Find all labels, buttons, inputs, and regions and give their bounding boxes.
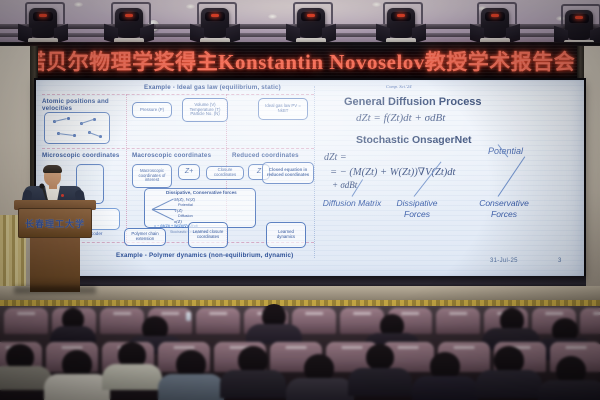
audience-shoulders	[50, 326, 96, 342]
ceiling-downlight	[268, 14, 277, 19]
lectern-podium: 长春理工大学	[14, 200, 96, 292]
audience-shoulders	[220, 370, 286, 398]
seat-number-tag	[305, 312, 323, 315]
auditorium-seat	[340, 308, 384, 334]
audience-head	[366, 344, 394, 370]
seat-number-tag	[342, 346, 363, 349]
stage-spotlight	[378, 2, 424, 46]
spotlight-indicator-icon	[39, 14, 47, 17]
seat-number-tag	[286, 346, 307, 349]
seat-number-tag	[17, 312, 35, 315]
stage-spotlight	[106, 2, 152, 46]
audience-shoulders	[102, 364, 162, 390]
speaker-hair	[43, 165, 62, 173]
led-banner: 诺贝尔物理学奖得主Konstantin Novoselov教授学术报告会	[0, 42, 600, 80]
podium-institution-plaque: 长春理工大学	[25, 217, 85, 230]
auditorium-seat	[100, 308, 144, 334]
seat-number-tag	[398, 346, 419, 349]
audience-shoulders	[538, 380, 600, 400]
auditorium-photo: 诺贝尔物理学奖得主Konstantin Novoselov教授学术报告会 Exa…	[0, 0, 600, 400]
audience-shoulders	[158, 374, 224, 400]
audience-area	[0, 306, 600, 400]
seat-number-tag	[449, 312, 467, 315]
speaker-lapel-pin-icon	[61, 194, 64, 197]
auditorium-seat	[436, 308, 480, 334]
podium-column	[30, 238, 80, 292]
screen-bezel	[34, 78, 586, 280]
seat-number-tag	[209, 312, 227, 315]
podium-shadow	[14, 286, 96, 294]
seat-number-tag	[401, 312, 419, 315]
stage-spotlight	[472, 2, 518, 46]
seat-number-tag	[353, 312, 371, 315]
audience-shoulders	[412, 376, 478, 400]
seat-number-tag	[593, 312, 600, 315]
stage-spotlight	[288, 2, 334, 46]
seat-number-tag	[566, 346, 587, 349]
seat-number-tag	[161, 312, 179, 315]
stage-spotlight	[20, 2, 66, 46]
spotlight-indicator-icon	[397, 14, 405, 17]
seat-number-tag	[174, 346, 195, 349]
led-scanline-overlay	[0, 42, 600, 80]
seat-number-tag	[62, 346, 83, 349]
water-bottle	[186, 312, 191, 321]
audience-shoulders	[246, 324, 302, 344]
stage-spotlight	[192, 2, 238, 46]
podium-front-panel: 长春理工大学	[18, 208, 92, 238]
spotlight-indicator-icon	[575, 16, 583, 19]
audience-shoulders	[476, 370, 542, 398]
spotlight-indicator-icon	[307, 14, 315, 17]
seat-number-tag	[454, 346, 475, 349]
spotlight-indicator-icon	[491, 14, 499, 17]
auditorium-seat	[580, 308, 600, 334]
spotlight-indicator-icon	[125, 14, 133, 17]
audience-shoulders	[44, 374, 110, 400]
auditorium-seat	[4, 308, 48, 334]
audience-shoulders	[286, 378, 354, 400]
ceiling-downlight	[74, 2, 83, 7]
audience-shoulders	[348, 368, 412, 396]
seat-number-tag	[113, 312, 131, 315]
auditorium-seat	[196, 308, 240, 334]
seat-number-tag	[545, 312, 563, 315]
spotlight-indicator-icon	[211, 14, 219, 17]
